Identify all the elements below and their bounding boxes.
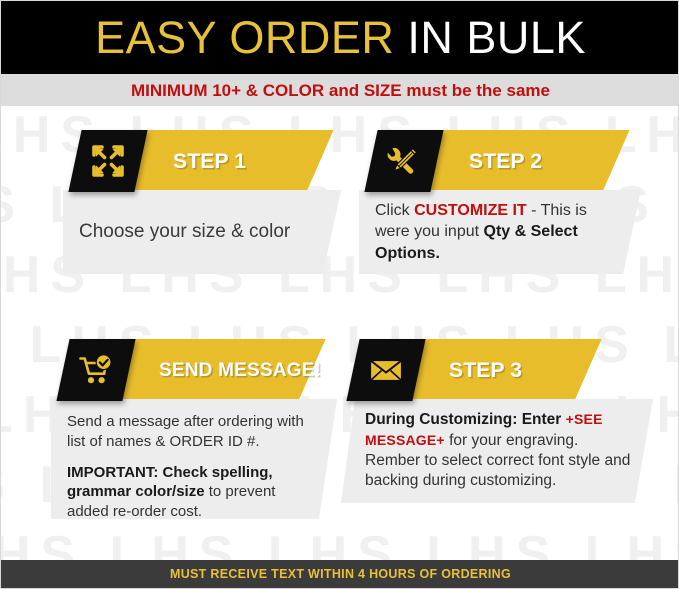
envelope-icon	[346, 339, 425, 401]
card-body: Send a message after ordering with list …	[51, 399, 337, 519]
card-header: STEP 3	[341, 339, 653, 401]
card-step-3: STEP 3 During Customizing: Enter +SEE ME…	[341, 339, 653, 503]
card-body-line: Click CUSTOMIZE IT - This is were you in…	[375, 200, 625, 263]
card-body-line: Send a message after ordering with list …	[67, 412, 321, 452]
highlight-customize-it: CUSTOMIZE IT	[414, 202, 527, 219]
card-header: STEP 2	[359, 130, 649, 192]
card-step-1: STEP 1 Choose your size & color	[63, 130, 351, 274]
card-step-label: SEND MESSAGE!	[159, 339, 321, 401]
card-body-line-important: IMPORTANT: Check spelling, grammar color…	[67, 463, 321, 522]
card-header: SEND MESSAGE!	[51, 339, 351, 401]
text-segment: Click	[375, 202, 414, 219]
page-title-primary: EASY ORDER	[95, 12, 394, 63]
card-step-2: STEP 2 Click CUSTOMIZE IT - This is were…	[359, 130, 649, 274]
page-title-secondary	[394, 12, 407, 63]
card-send-message: SEND MESSAGE! Send a message after order…	[51, 339, 351, 519]
subtitle-bar: MINIMUM 10+ & COLOR and SIZE must be the…	[1, 74, 679, 106]
card-body-line: Choose your size & color	[79, 219, 290, 244]
card-step-label: STEP 1	[173, 130, 246, 192]
expand-arrows-icon	[68, 130, 147, 192]
poster-footer: MUST RECEIVE TEXT WITHIN 4 HOURS OF ORDE…	[1, 560, 679, 588]
page-title-secondary-text: IN BULK	[407, 12, 586, 63]
subtitle-segment-size: SIZE	[364, 81, 402, 100]
card-step-label: STEP 3	[449, 339, 522, 401]
card-header: STEP 1	[63, 130, 351, 192]
card-body: During Customizing: Enter +SEE MESSAGE+ …	[341, 399, 653, 503]
subtitle-text: MINIMUM 10+ & COLOR and SIZE must be the…	[131, 82, 550, 99]
poster-header: EASY ORDER IN BULK	[1, 1, 679, 74]
text-segment: During Customizing: Enter	[365, 411, 566, 428]
footer-text: MUST RECEIVE TEXT WITHIN 4 HOURS OF ORDE…	[170, 568, 511, 581]
highlight-color-size: color/size	[135, 483, 204, 500]
card-body-line: During Customizing: Enter +SEE MESSAGE+ …	[365, 410, 637, 492]
card-body: Choose your size & color	[63, 190, 341, 274]
subtitle-segment-tail: must be the same	[402, 81, 550, 100]
infographic-poster: LHS LHS LHS LHS LHS LHS LHS LHS LHS LHS …	[0, 0, 679, 589]
subtitle-segment-minimum: MINIMUM 10+ & COLOR	[131, 81, 324, 100]
subtitle-segment-and: and	[324, 81, 364, 100]
label-important: IMPORTANT:	[67, 464, 158, 481]
card-step-label: STEP 2	[469, 130, 542, 192]
card-body: Click CUSTOMIZE IT - This is were you in…	[359, 190, 641, 274]
page-title: EASY ORDER IN BULK	[95, 15, 586, 60]
wrench-pencil-icon	[364, 130, 443, 192]
cart-check-icon	[56, 339, 135, 401]
